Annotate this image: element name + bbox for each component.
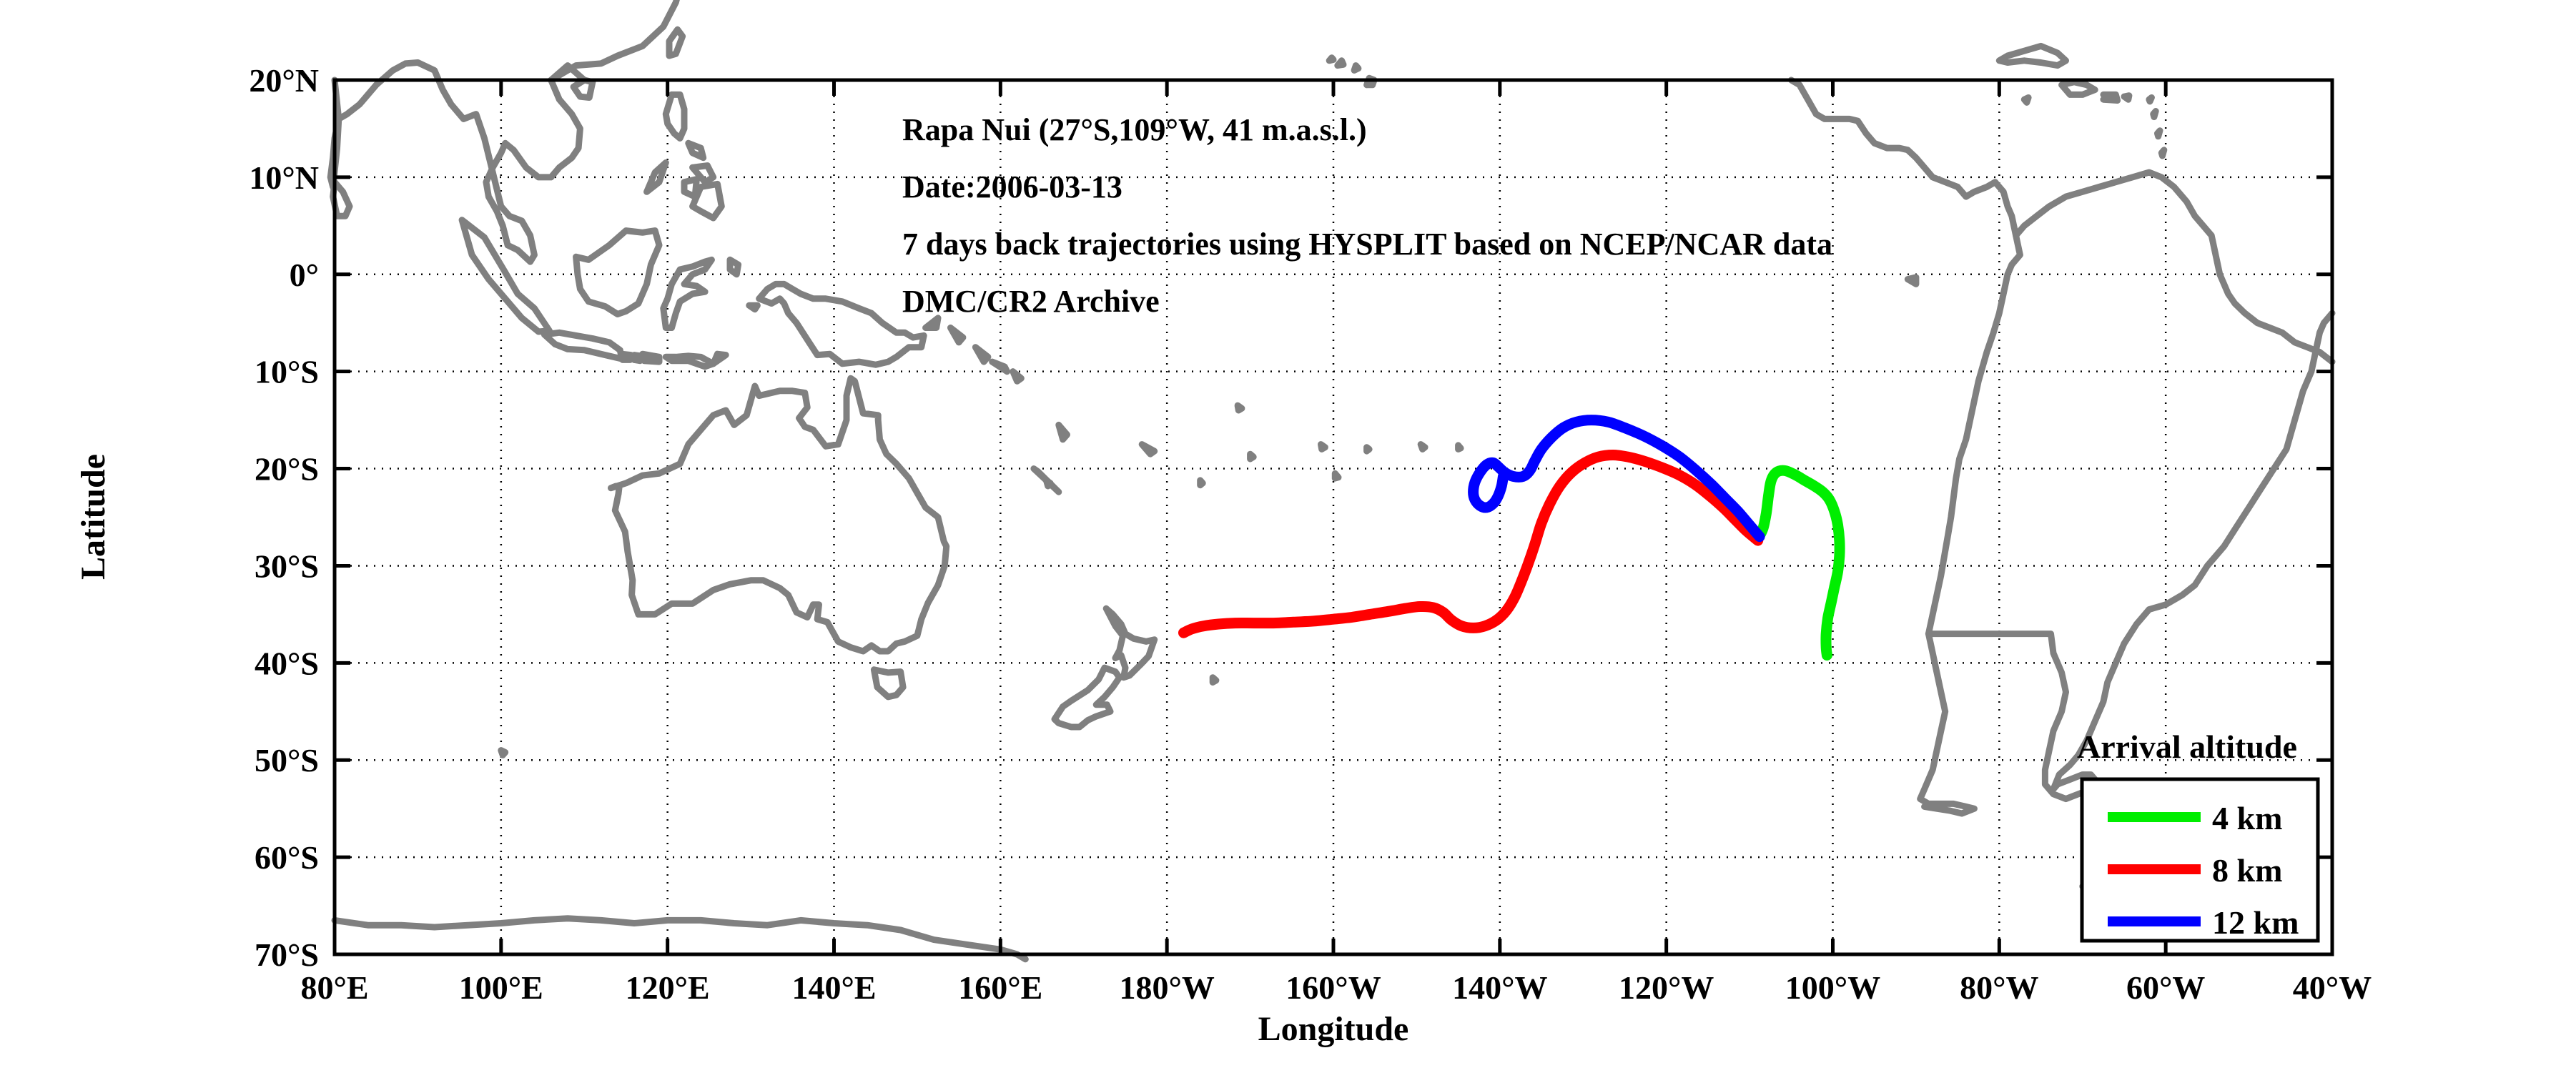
y-tick-label: 20°S <box>255 451 319 488</box>
x-tick-label: 120°E <box>626 969 710 1006</box>
x-tick-label: 40°W <box>2293 969 2372 1006</box>
coastline-path <box>1046 480 1050 486</box>
coastline-path <box>501 751 505 756</box>
x-axis-title: Longitude <box>1258 1010 1409 1048</box>
map-svg: 80°E100°E120°E140°E160°E180°W160°W140°W1… <box>0 0 2576 1073</box>
coastline-path <box>2153 112 2156 117</box>
coastline-path <box>643 354 659 362</box>
x-tick-label: 160°W <box>1285 969 1381 1006</box>
y-tick-label: 50°S <box>255 742 319 778</box>
coastline-path <box>1250 454 1254 459</box>
coastline-path <box>1335 473 1338 478</box>
coastline-path <box>749 305 758 309</box>
coastline-path <box>1338 61 1343 66</box>
coastline-path <box>1321 445 1326 450</box>
coastline-path <box>622 354 631 360</box>
y-tick-label: 10°N <box>249 159 319 196</box>
coastline-path <box>2161 150 2164 156</box>
y-tick-label: 20°N <box>249 62 319 99</box>
coastline-path <box>1908 277 1916 285</box>
coastline-path <box>2124 96 2129 100</box>
x-tick-label: 160°E <box>958 969 1042 1006</box>
coastline-path <box>1459 445 1461 450</box>
y-tick-label: 70°S <box>255 936 319 973</box>
annotation-line-4: DMC/CR2 Archive <box>902 284 1160 319</box>
annotation-line-3: 7 days back trajectories using HYSPLIT b… <box>902 227 1832 262</box>
coastline-path <box>1421 445 1425 450</box>
legend-label-12-km: 12 km <box>2212 904 2299 941</box>
x-tick-label: 100°W <box>1785 969 1880 1006</box>
y-tick-label: 30°S <box>255 548 319 584</box>
x-tick-label: 80°W <box>1960 969 2038 1006</box>
x-tick-label: 100°E <box>459 969 543 1006</box>
coastline-path <box>1238 405 1242 410</box>
coastline-path <box>2149 98 2152 102</box>
legend-label-8-km: 8 km <box>2212 852 2282 889</box>
annotation-line-1: Rapa Nui (27°S,109°W, 41 m.a.s.l.) <box>902 112 1367 147</box>
trajectory-map-figure: 80°E100°E120°E140°E160°E180°W160°W140°W1… <box>0 0 2576 1073</box>
coastline-path <box>1200 480 1203 485</box>
annotation-line-2: Date:2006-03-13 <box>902 169 1122 204</box>
y-tick-label: 0° <box>290 257 319 293</box>
coastline-path <box>1329 58 1333 61</box>
coastline-path <box>2103 94 2118 100</box>
x-tick-label: 140°W <box>1452 969 1547 1006</box>
legend-box[interactable]: 4 km8 km12 km <box>2082 779 2318 941</box>
y-axis-title: Latitude <box>74 454 112 580</box>
coastline-path <box>2024 98 2028 103</box>
coastline-path <box>1354 66 1358 71</box>
coastline-path <box>1367 448 1370 451</box>
legend-label-4-km: 4 km <box>2212 800 2282 836</box>
coastline-path <box>1213 678 1216 683</box>
x-tick-label: 120°W <box>1619 969 1714 1006</box>
x-tick-label: 140°E <box>791 969 876 1006</box>
x-tick-label: 180°W <box>1119 969 1214 1006</box>
x-tick-label: 80°E <box>300 969 368 1006</box>
y-tick-label: 40°S <box>255 645 319 681</box>
y-tick-label: 60°S <box>255 839 319 876</box>
legend-title: Arrival altitude <box>2077 728 2297 765</box>
coastline-path <box>2158 131 2161 137</box>
y-tick-label: 10°S <box>255 354 319 390</box>
x-tick-label: 60°W <box>2126 969 2205 1006</box>
